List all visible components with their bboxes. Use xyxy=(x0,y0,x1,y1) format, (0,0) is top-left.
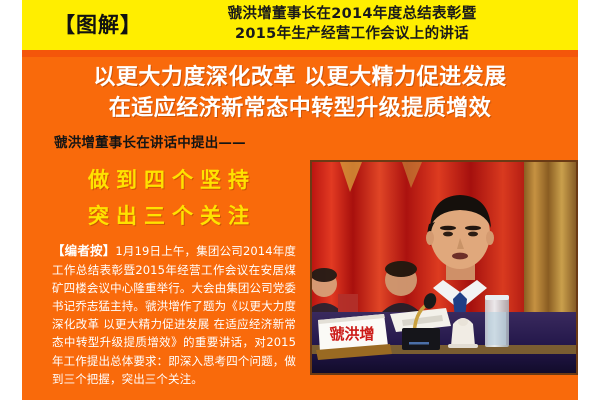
speaker-photo-image: 虢洪增 xyxy=(312,162,576,373)
header-title-block: 虢洪增董事长在2014年度总结表彰暨 2015年生产经营工作会议上的讲话 xyxy=(142,5,578,44)
slogan-block: 做到四个坚持 突出三个关注 xyxy=(48,162,296,234)
nameplate: 虢洪增 xyxy=(316,314,392,360)
slogan-line-2: 突出三个关注 xyxy=(48,198,296,234)
header-title-line-1: 虢洪增董事长在2014年度总结表彰暨 xyxy=(142,5,562,25)
speaker-photo: 虢洪增 xyxy=(310,160,578,375)
editor-note-text: 1月19日上午，集团公司2014年度工作总结表彰暨2015年经营工作会议在安居煤… xyxy=(52,244,296,386)
header-band: 【图解】 虢洪增董事长在2014年度总结表彰暨 2015年生产经营工作会议上的讲… xyxy=(22,0,578,50)
slogan-line-1: 做到四个坚持 xyxy=(48,162,296,198)
banner-line-1: 以更大力度深化改革 以更大精力促进发展 xyxy=(22,62,578,93)
poster-root: 【图解】 虢洪增董事长在2014年度总结表彰暨 2015年生产经营工作会议上的讲… xyxy=(0,0,600,400)
poster-frame: 【图解】 虢洪增董事长在2014年度总结表彰暨 2015年生产经营工作会议上的讲… xyxy=(22,0,578,400)
editor-note-label: 【编者按】 xyxy=(52,243,115,258)
banner-line-2: 在适应经济新常态中转型升级提质增效 xyxy=(22,93,578,124)
banner-headline: 以更大力度深化改革 以更大精力促进发展 在适应经济新常态中转型升级提质增效 xyxy=(22,62,578,124)
bracket-title: 【图解】 xyxy=(54,15,142,36)
header-divider-rule xyxy=(22,50,578,57)
editor-note: 【编者按】1月19日上午，集团公司2014年度工作总结表彰暨2015年经营工作会… xyxy=(52,241,296,388)
leadin-text: 虢洪增董事长在讲话中提出—— xyxy=(54,131,246,151)
svg-text:虢洪增: 虢洪增 xyxy=(329,325,374,343)
header-title-line-2: 2015年生产经营工作会议上的讲话 xyxy=(142,25,562,45)
